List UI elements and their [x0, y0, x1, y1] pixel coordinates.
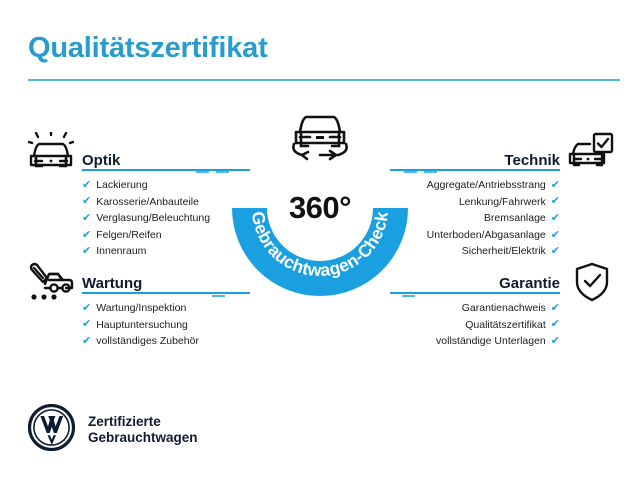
list-item: ✔ Felgen/Reifen — [82, 227, 250, 244]
check-icon: ✔ — [82, 213, 91, 224]
list-item: ✔ Karosserie/Anbauteile — [82, 194, 250, 211]
list-item: ✔ Innenraum — [82, 243, 250, 260]
check-icon: ✔ — [551, 196, 560, 207]
volkswagen-logo — [28, 404, 75, 456]
checklist-technik: ✔ Aggregate/Antriebsstrang ✔ Lenkung/Fah… — [390, 177, 560, 260]
check-icon: ✔ — [551, 180, 560, 191]
check-icon: ✔ — [82, 196, 91, 207]
footer-text: Zertifizierte Gebrauchtwagen — [88, 414, 198, 446]
check-icon: ✔ — [551, 319, 560, 330]
footer-line-1: Zertifizierte — [88, 414, 198, 430]
section-header-optik: Optik — [82, 147, 250, 171]
section-divider-optik — [82, 169, 250, 171]
list-item: ✔ Lenkung/Fahrwerk — [390, 194, 560, 211]
check-icon: ✔ — [82, 246, 91, 257]
footer-brand: Zertifizierte Gebrauchtwagen — [28, 404, 198, 456]
list-item: ✔ Qualitätszertifikat — [390, 317, 560, 334]
car-rotation-360-icon — [282, 108, 358, 164]
list-item-label: Karosserie/Anbauteile — [96, 194, 199, 211]
section-divider-technik — [390, 169, 560, 171]
list-item: ✔ Hauptuntersuchung — [82, 317, 250, 334]
list-item-label: Unterboden/Abgasanlage — [427, 227, 546, 244]
checklist-wartung: ✔ Wartung/Inspektion ✔ Hauptuntersuchung… — [82, 300, 250, 350]
list-item-label: Garantienachweis — [462, 300, 546, 317]
list-item: ✔ Verglasung/Beleuchtung — [82, 210, 250, 227]
page-title: Qualitätszertifikat — [28, 32, 268, 65]
list-item: ✔ Garantienachweis — [390, 300, 560, 317]
section-technik: Technik ✔ Aggregate/Antriebsstrang ✔ Len… — [390, 147, 560, 260]
car-shine-icon — [28, 132, 74, 177]
checklist-optik: ✔ Lackierung ✔ Karosserie/Anbauteile ✔ V… — [82, 177, 250, 260]
list-item-label: vollständige Unterlagen — [436, 333, 546, 350]
section-garantie: Garantie ✔ Garantienachweis ✔ Qualitätsz… — [390, 270, 560, 350]
section-wartung: Wartung ✔ Wartung/Inspektion ✔ Hauptunte… — [82, 270, 250, 350]
check-icon: ✔ — [82, 180, 91, 191]
list-item: ✔ Lackierung — [82, 177, 250, 194]
list-item-label: Lackierung — [96, 177, 147, 194]
certificate-page: Qualitätszertifikat — [0, 0, 640, 480]
list-item: ✔ Wartung/Inspektion — [82, 300, 250, 317]
section-title-garantie: Garantie — [499, 275, 560, 292]
list-item-label: Innenraum — [96, 243, 146, 260]
list-item-label: Hauptuntersuchung — [96, 317, 188, 334]
check-icon: ✔ — [551, 213, 560, 224]
list-item-label: Verglasung/Beleuchtung — [96, 210, 210, 227]
check-icon: ✔ — [551, 303, 560, 314]
section-divider-garantie — [390, 292, 560, 294]
list-item: ✔ vollständiges Zubehör — [82, 333, 250, 350]
checklist-garantie: ✔ Garantienachweis ✔ Qualitätszertifikat… — [390, 300, 560, 350]
section-divider-wartung — [82, 292, 250, 294]
title-divider — [28, 79, 620, 81]
check-icon: ✔ — [82, 319, 91, 330]
section-title-technik: Technik — [504, 152, 560, 169]
check-icon: ✔ — [82, 303, 91, 314]
badge-360-gebrauchtwagen-check: Gebrauchtwagen-Check 360° — [232, 120, 408, 296]
section-title-wartung: Wartung — [82, 275, 142, 292]
list-item: ✔ Sicherheit/Elektrik — [390, 243, 560, 260]
list-item-label: Felgen/Reifen — [96, 227, 161, 244]
list-item-label: vollständiges Zubehör — [96, 333, 199, 350]
footer-line-2: Gebrauchtwagen — [88, 430, 198, 446]
list-item-label: Qualitätszertifikat — [465, 317, 546, 334]
shield-check-icon — [572, 262, 612, 307]
section-title-optik: Optik — [82, 152, 120, 169]
list-item-label: Lenkung/Fahrwerk — [459, 194, 546, 211]
list-item: ✔ Aggregate/Antriebsstrang — [390, 177, 560, 194]
section-header-wartung: Wartung — [82, 270, 250, 294]
list-item: ✔ vollständige Unterlagen — [390, 333, 560, 350]
check-icon: ✔ — [551, 230, 560, 241]
list-item: ✔ Bremsanlage — [390, 210, 560, 227]
section-header-technik: Technik — [390, 147, 560, 171]
list-item-label: Wartung/Inspektion — [96, 300, 186, 317]
section-header-garantie: Garantie — [390, 270, 560, 294]
check-icon: ✔ — [551, 246, 560, 257]
check-icon: ✔ — [551, 336, 560, 347]
check-icon: ✔ — [82, 336, 91, 347]
list-item: ✔ Unterboden/Abgasanlage — [390, 227, 560, 244]
car-checkbox-icon — [568, 132, 614, 177]
check-icon: ✔ — [82, 230, 91, 241]
list-item-label: Sicherheit/Elektrik — [462, 243, 546, 260]
list-item-label: Aggregate/Antriebsstrang — [427, 177, 546, 194]
list-item-label: Bremsanlage — [484, 210, 546, 227]
wrench-car-service-icon — [28, 262, 74, 307]
section-optik: Optik ✔ Lackierung ✔ Karosserie/Anbautei… — [82, 147, 250, 260]
